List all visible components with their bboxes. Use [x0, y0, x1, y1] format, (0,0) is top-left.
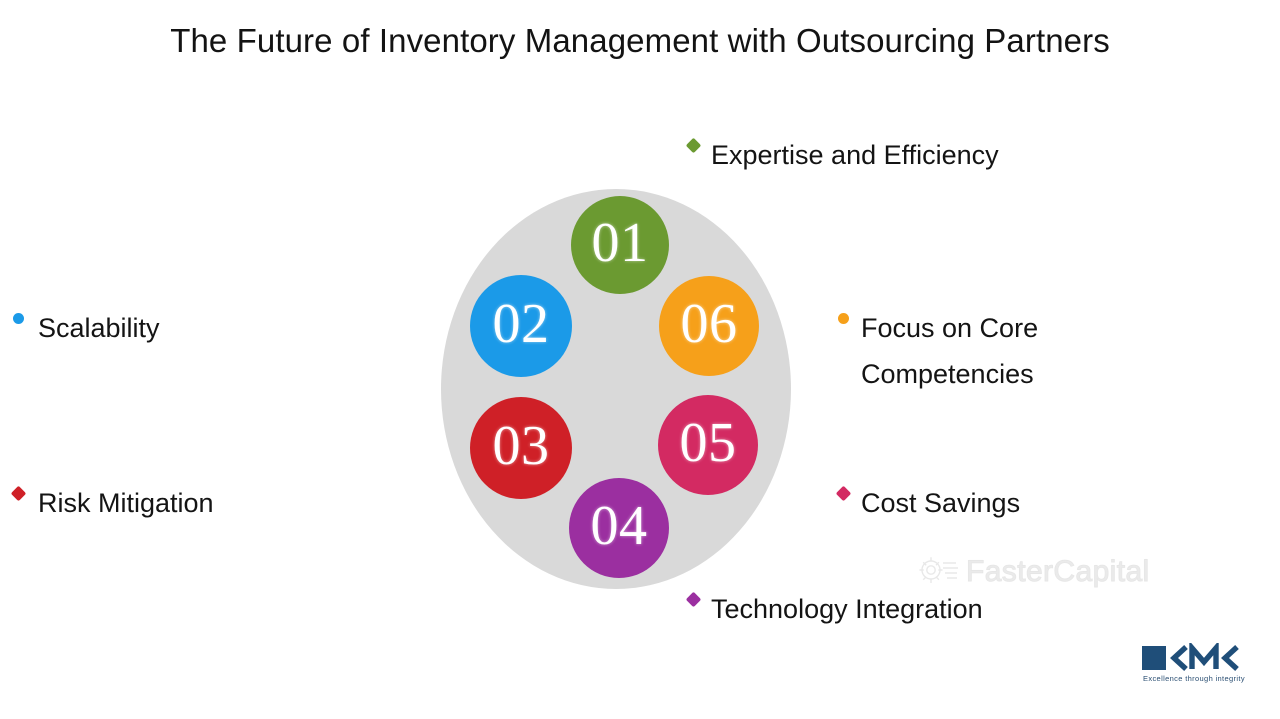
- wheel-node-04-number: 04: [591, 498, 648, 554]
- wheel-node-02-number: 02: [493, 296, 550, 352]
- callout-scalability[interactable]: Scalability: [13, 305, 160, 351]
- callout-label-expertise: Expertise and Efficiency: [711, 132, 999, 178]
- bullet-icon-scalability: [13, 313, 24, 324]
- callout-label-cost: Cost Savings: [861, 480, 1020, 526]
- bullet-icon-technology: [686, 592, 702, 608]
- bullet-icon-focus: [838, 313, 849, 324]
- callout-technology-integration[interactable]: Technology Integration: [688, 586, 983, 632]
- wheel-node-01[interactable]: 01: [571, 196, 669, 294]
- wheel-node-04[interactable]: 04: [569, 478, 669, 578]
- callout-cost-savings[interactable]: Cost Savings: [838, 480, 1020, 526]
- wheel-node-02[interactable]: 02: [470, 275, 572, 377]
- wheel-node-05[interactable]: 05: [658, 395, 758, 495]
- wheel-diagram: FasterCapital 01 02 03 04 05 06: [441, 189, 791, 589]
- brand-tagline: Excellence through integrity: [1143, 674, 1245, 683]
- bullet-icon-cost: [836, 486, 852, 502]
- wheel-node-06[interactable]: 06: [659, 276, 759, 376]
- callout-label-scalability: Scalability: [38, 305, 160, 351]
- callout-label-risk: Risk Mitigation: [38, 480, 214, 526]
- callout-label-technology: Technology Integration: [711, 586, 983, 632]
- wheel-node-03[interactable]: 03: [470, 397, 572, 499]
- callout-expertise-and-efficiency[interactable]: Expertise and Efficiency: [688, 132, 999, 178]
- gear-icon: [917, 554, 959, 591]
- bullet-icon-expertise: [686, 138, 702, 154]
- bullet-icon-risk: [11, 486, 27, 502]
- callout-focus-on-core-competencies[interactable]: Focus on Core Competencies: [838, 305, 1038, 397]
- kmk-logo-icon: [1142, 643, 1262, 678]
- wheel-node-05-number: 05: [680, 415, 737, 471]
- brand-logo: Excellence through integrity: [1142, 643, 1262, 691]
- wheel-node-03-number: 03: [493, 418, 550, 474]
- callout-risk-mitigation[interactable]: Risk Mitigation: [13, 480, 214, 526]
- page-title: The Future of Inventory Management with …: [0, 22, 1280, 60]
- wheel-node-01-number: 01: [592, 215, 649, 271]
- callout-label-focus: Focus on Core Competencies: [861, 305, 1038, 397]
- watermark-label: FasterCapital: [966, 555, 1150, 589]
- wheel-node-06-number: 06: [681, 296, 738, 352]
